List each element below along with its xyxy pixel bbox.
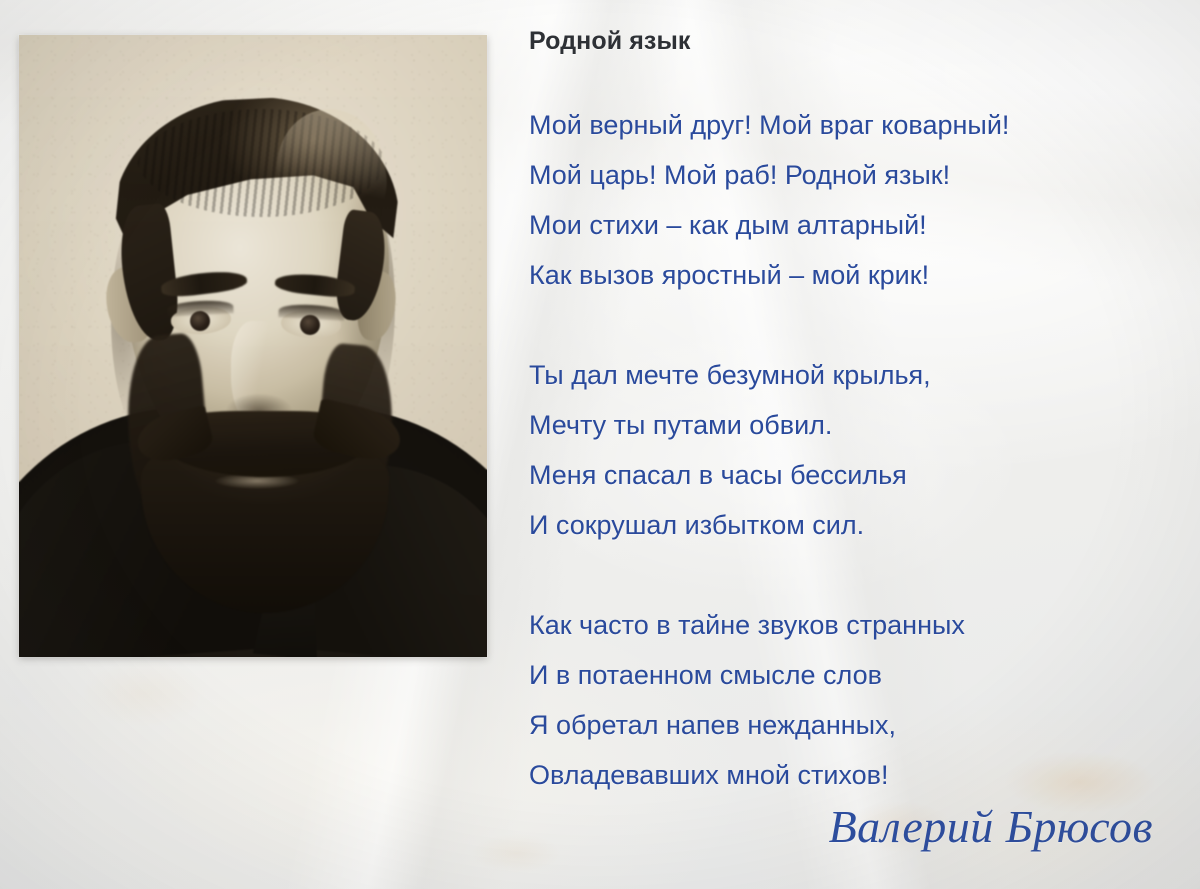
poem-line: Мои стихи – как дым алтарный!	[529, 200, 1189, 250]
poem-line: Как вызов яростный – мой крик!	[529, 250, 1189, 300]
portrait-photo	[19, 35, 487, 657]
poem-title: Родной язык	[529, 27, 691, 56]
poem-line: Я обретал напев нежданных,	[529, 700, 1189, 750]
poem-line: Овладевавших мной стихов!	[529, 750, 1189, 800]
stanza-1: Мой верный друг! Мой враг коварный! Мой …	[529, 100, 1189, 300]
author-signature: Валерий Брюсов	[829, 800, 1153, 853]
poem-text-column: Родной язык Мой верный друг! Мой враг ко…	[529, 0, 1189, 889]
poem-line: Меня спасал в часы бессилья	[529, 450, 1189, 500]
poem-line: И в потаенном смысле слов	[529, 650, 1189, 700]
poem-line: И сокрушал избытком сил.	[529, 500, 1189, 550]
stanza-3: Как часто в тайне звуков странных И в по…	[529, 600, 1189, 800]
poem-line: Мой царь! Мой раб! Родной язык!	[529, 150, 1189, 200]
stanza-2: Ты дал мечте безумной крылья, Мечту ты п…	[529, 350, 1189, 550]
poem-line: Как часто в тайне звуков странных	[529, 600, 1189, 650]
poem-line: Ты дал мечте безумной крылья,	[529, 350, 1189, 400]
poem-poster: Родной язык Мой верный друг! Мой враг ко…	[0, 0, 1200, 889]
photo-soft-focus	[19, 35, 487, 657]
poem-line: Мечту ты путами обвил.	[529, 400, 1189, 450]
poem-stanzas: Мой верный друг! Мой враг коварный! Мой …	[529, 100, 1189, 850]
poem-line: Мой верный друг! Мой враг коварный!	[529, 100, 1189, 150]
